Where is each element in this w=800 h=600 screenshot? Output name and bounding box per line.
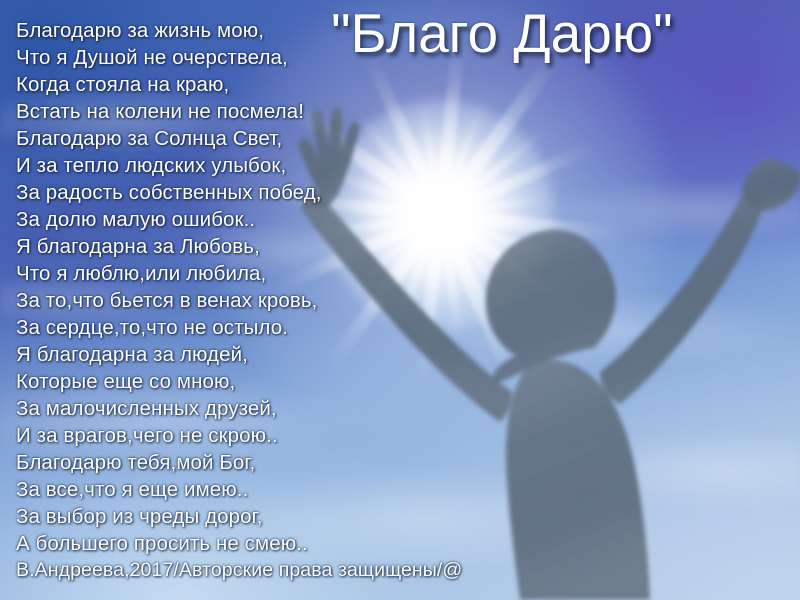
- poem-line: За сердце,то,что не остыло.: [16, 314, 436, 341]
- poem-line: За малочисленных друзей,: [16, 395, 436, 422]
- poem-line: За все,что я еще имею..: [16, 476, 436, 503]
- poem-text-block: Благодарю за жизнь мою,Что я Душой не оч…: [16, 17, 436, 584]
- poem-line: Когда стояла на краю,: [16, 71, 436, 98]
- poster-image: Благодарю за жизнь мою,Что я Душой не оч…: [0, 0, 800, 600]
- poem-line: Благодарю тебя,мой Бог,: [16, 449, 436, 476]
- poem-line: Благодарю за Солнца Свет,: [16, 125, 436, 152]
- poem-line: За выбор из чреды дорог,: [16, 503, 436, 530]
- poem-credit-line: В.Андреева,2017/Авторские права защищены…: [16, 557, 436, 584]
- poem-line: Встать на колени не посмела!: [16, 98, 436, 125]
- poem-line: Я благодарна за людей,: [16, 341, 436, 368]
- poster-title: "Благо Дарю": [331, 2, 673, 64]
- poem-line: Что я люблю,или любила,: [16, 260, 436, 287]
- poem-line: Которые еще со мною,: [16, 368, 436, 395]
- poem-line: За долю малую ошибок..: [16, 206, 436, 233]
- poem-line: За радость собственных побед,: [16, 179, 436, 206]
- poster-title-text: "Благо Дарю": [331, 2, 673, 64]
- poem-line: Я благодарна за Любовь,: [16, 233, 436, 260]
- poem-line: И за тепло людских улыбок,: [16, 152, 436, 179]
- poem-line: А большего просить не смею..: [16, 530, 436, 557]
- poem-line: За то,что бьется в венах кровь,: [16, 287, 436, 314]
- poem-line: И за врагов,чего не скрою..: [16, 422, 436, 449]
